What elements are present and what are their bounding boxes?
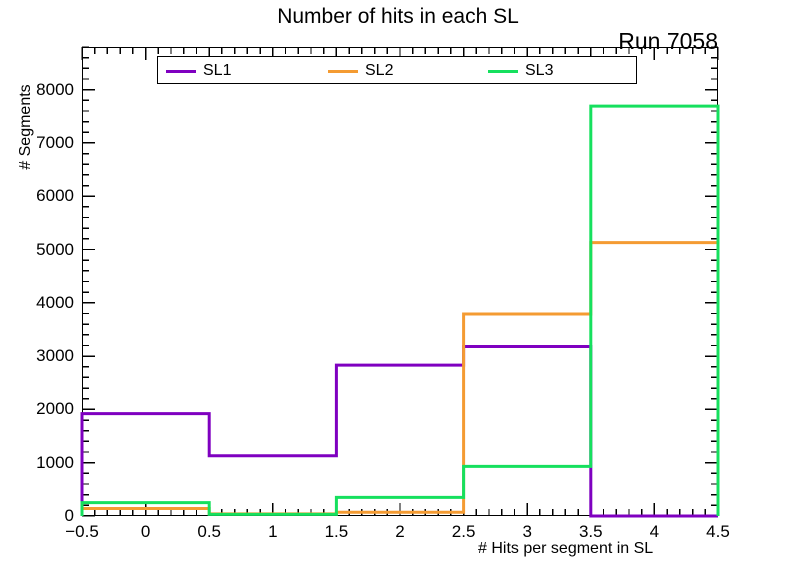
plot-frame <box>82 47 718 516</box>
y-tick-label: 8000 <box>0 80 74 100</box>
x-tick-label: −0.5 <box>65 522 99 542</box>
legend-line-icon <box>166 70 196 73</box>
chart-legend: SL1SL2SL3 <box>157 56 637 84</box>
x-tick-label: 4.5 <box>706 522 730 542</box>
plot-title: Number of hits in each SL <box>0 5 796 29</box>
x-tick-label: 3 <box>522 522 531 542</box>
legend-label: SL2 <box>365 63 393 79</box>
x-tick-label: 4 <box>650 522 659 542</box>
legend-line-icon <box>328 70 358 73</box>
x-tick-label: 0 <box>141 522 150 542</box>
x-tick-label: 2.5 <box>452 522 476 542</box>
y-tick-label: 0 <box>0 506 74 526</box>
y-tick-label: 4000 <box>0 293 74 313</box>
y-tick-label: 2000 <box>0 399 74 419</box>
y-tick-label: 1000 <box>0 453 74 473</box>
x-tick-label: 1.5 <box>325 522 349 542</box>
y-tick-label: 7000 <box>0 133 74 153</box>
legend-entry-sl3: SL3 <box>488 61 553 81</box>
y-tick-label: 5000 <box>0 240 74 260</box>
x-tick-label: 2 <box>395 522 404 542</box>
legend-entry-sl2: SL2 <box>328 61 393 81</box>
x-axis-title: # Hits per segment in SL <box>478 540 653 558</box>
x-tick-label: 1 <box>268 522 277 542</box>
y-tick-label: 6000 <box>0 186 74 206</box>
legend-label: SL3 <box>525 63 553 79</box>
y-tick-label: 3000 <box>0 346 74 366</box>
legend-entry-sl1: SL1 <box>166 61 231 81</box>
legend-label: SL1 <box>203 63 231 79</box>
y-axis-title: # Segments <box>17 57 35 197</box>
x-tick-label: 0.5 <box>197 522 221 542</box>
legend-line-icon <box>488 70 518 73</box>
x-tick-label: 3.5 <box>579 522 603 542</box>
root-canvas: Number of hits in each SL Run 7058 # Seg… <box>0 0 796 572</box>
